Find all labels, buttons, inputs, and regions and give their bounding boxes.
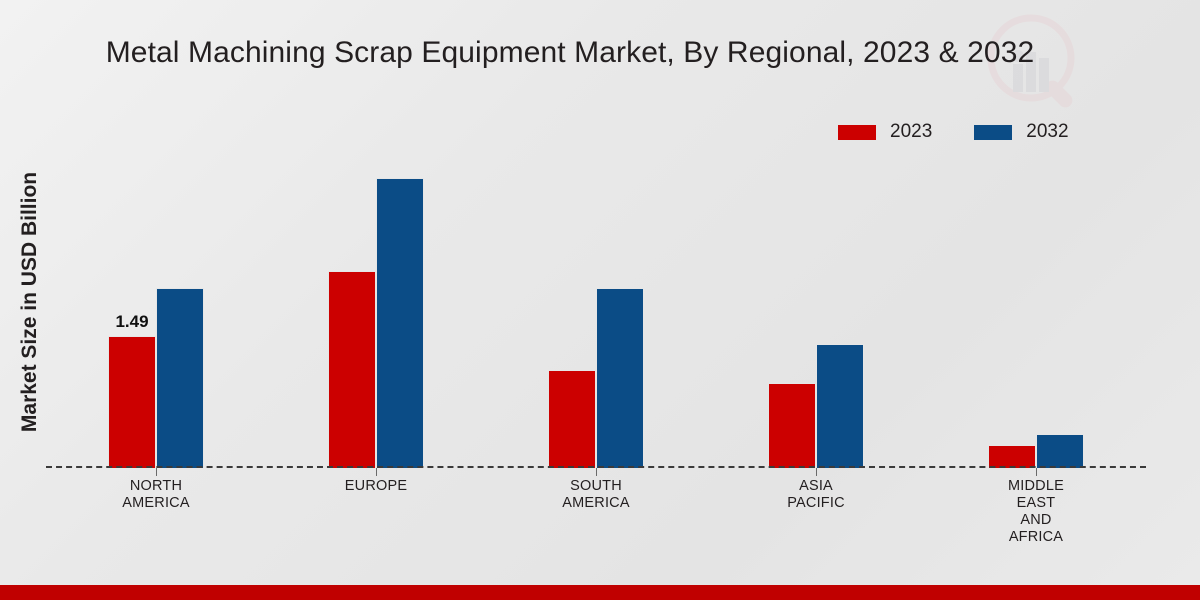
x-axis-baseline <box>46 466 1146 468</box>
bar-2023[interactable] <box>988 445 1036 468</box>
bar-2023[interactable]: 1.49 <box>108 336 156 468</box>
bar-2032[interactable] <box>596 288 644 468</box>
plot-area: 1.49 <box>46 150 1146 468</box>
x-axis-tick <box>816 468 817 476</box>
bar-pair <box>988 150 1084 468</box>
x-axis-label-line: EAST <box>926 495 1146 512</box>
chart-legend: 2023 2032 <box>838 121 1069 143</box>
x-axis-label-line: ASIA <box>706 478 926 495</box>
bar-group <box>926 150 1146 468</box>
x-axis-label-line: AMERICA <box>46 495 266 512</box>
bar-2032[interactable] <box>816 344 864 468</box>
x-axis-label-line: AND <box>926 512 1146 529</box>
x-axis-tick <box>376 468 377 476</box>
x-axis-label-line: EUROPE <box>266 478 486 495</box>
x-axis-label-line: MIDDLE <box>926 478 1146 495</box>
bar-2032[interactable] <box>376 178 424 468</box>
x-axis-tick <box>156 468 157 476</box>
x-axis-label-line: SOUTH <box>486 478 706 495</box>
x-axis-label-line: AMERICA <box>486 495 706 512</box>
legend-swatch-2023 <box>838 125 876 140</box>
y-axis-title: Market Size in USD Billion <box>18 137 42 467</box>
bar-2032[interactable] <box>1036 434 1084 468</box>
bar-value-label: 1.49 <box>115 312 148 332</box>
x-axis-category-labels: NORTHAMERICAEUROPESOUTHAMERICAASIAPACIFI… <box>46 478 1146 546</box>
legend-item-2032[interactable]: 2032 <box>974 121 1068 143</box>
bar-group <box>706 150 926 468</box>
bar-2023[interactable] <box>548 370 596 468</box>
bar-pair <box>328 150 424 468</box>
x-axis-label: SOUTHAMERICA <box>486 478 706 546</box>
legend-label-2032: 2032 <box>1026 121 1068 143</box>
bar-pair: 1.49 <box>108 150 204 468</box>
bar-2032[interactable] <box>156 288 204 468</box>
x-axis-label: EUROPE <box>266 478 486 546</box>
x-axis-label-line: PACIFIC <box>706 495 926 512</box>
footer-accent-bar <box>0 585 1200 600</box>
x-axis-label: ASIAPACIFIC <box>706 478 926 546</box>
bar-group <box>266 150 486 468</box>
x-axis-tick <box>596 468 597 476</box>
bar-pair <box>768 150 864 468</box>
bar-pair <box>548 150 644 468</box>
x-axis-label: NORTHAMERICA <box>46 478 266 546</box>
x-axis-label-line: AFRICA <box>926 529 1146 546</box>
bar-2023[interactable] <box>328 271 376 468</box>
chart-infographic: Metal Machining Scrap Equipment Market, … <box>0 0 1200 600</box>
legend-item-2023[interactable]: 2023 <box>838 121 932 143</box>
bar-group <box>486 150 706 468</box>
x-axis-label: MIDDLEEASTANDAFRICA <box>926 478 1146 546</box>
bar-2023[interactable] <box>768 383 816 468</box>
page-title: Metal Machining Scrap Equipment Market, … <box>0 36 1140 70</box>
legend-swatch-2032 <box>974 125 1012 140</box>
bar-groups: 1.49 <box>46 150 1146 468</box>
bar-group: 1.49 <box>46 150 266 468</box>
x-axis-tick <box>1036 468 1037 476</box>
legend-label-2023: 2023 <box>890 121 932 143</box>
x-axis-label-line: NORTH <box>46 478 266 495</box>
